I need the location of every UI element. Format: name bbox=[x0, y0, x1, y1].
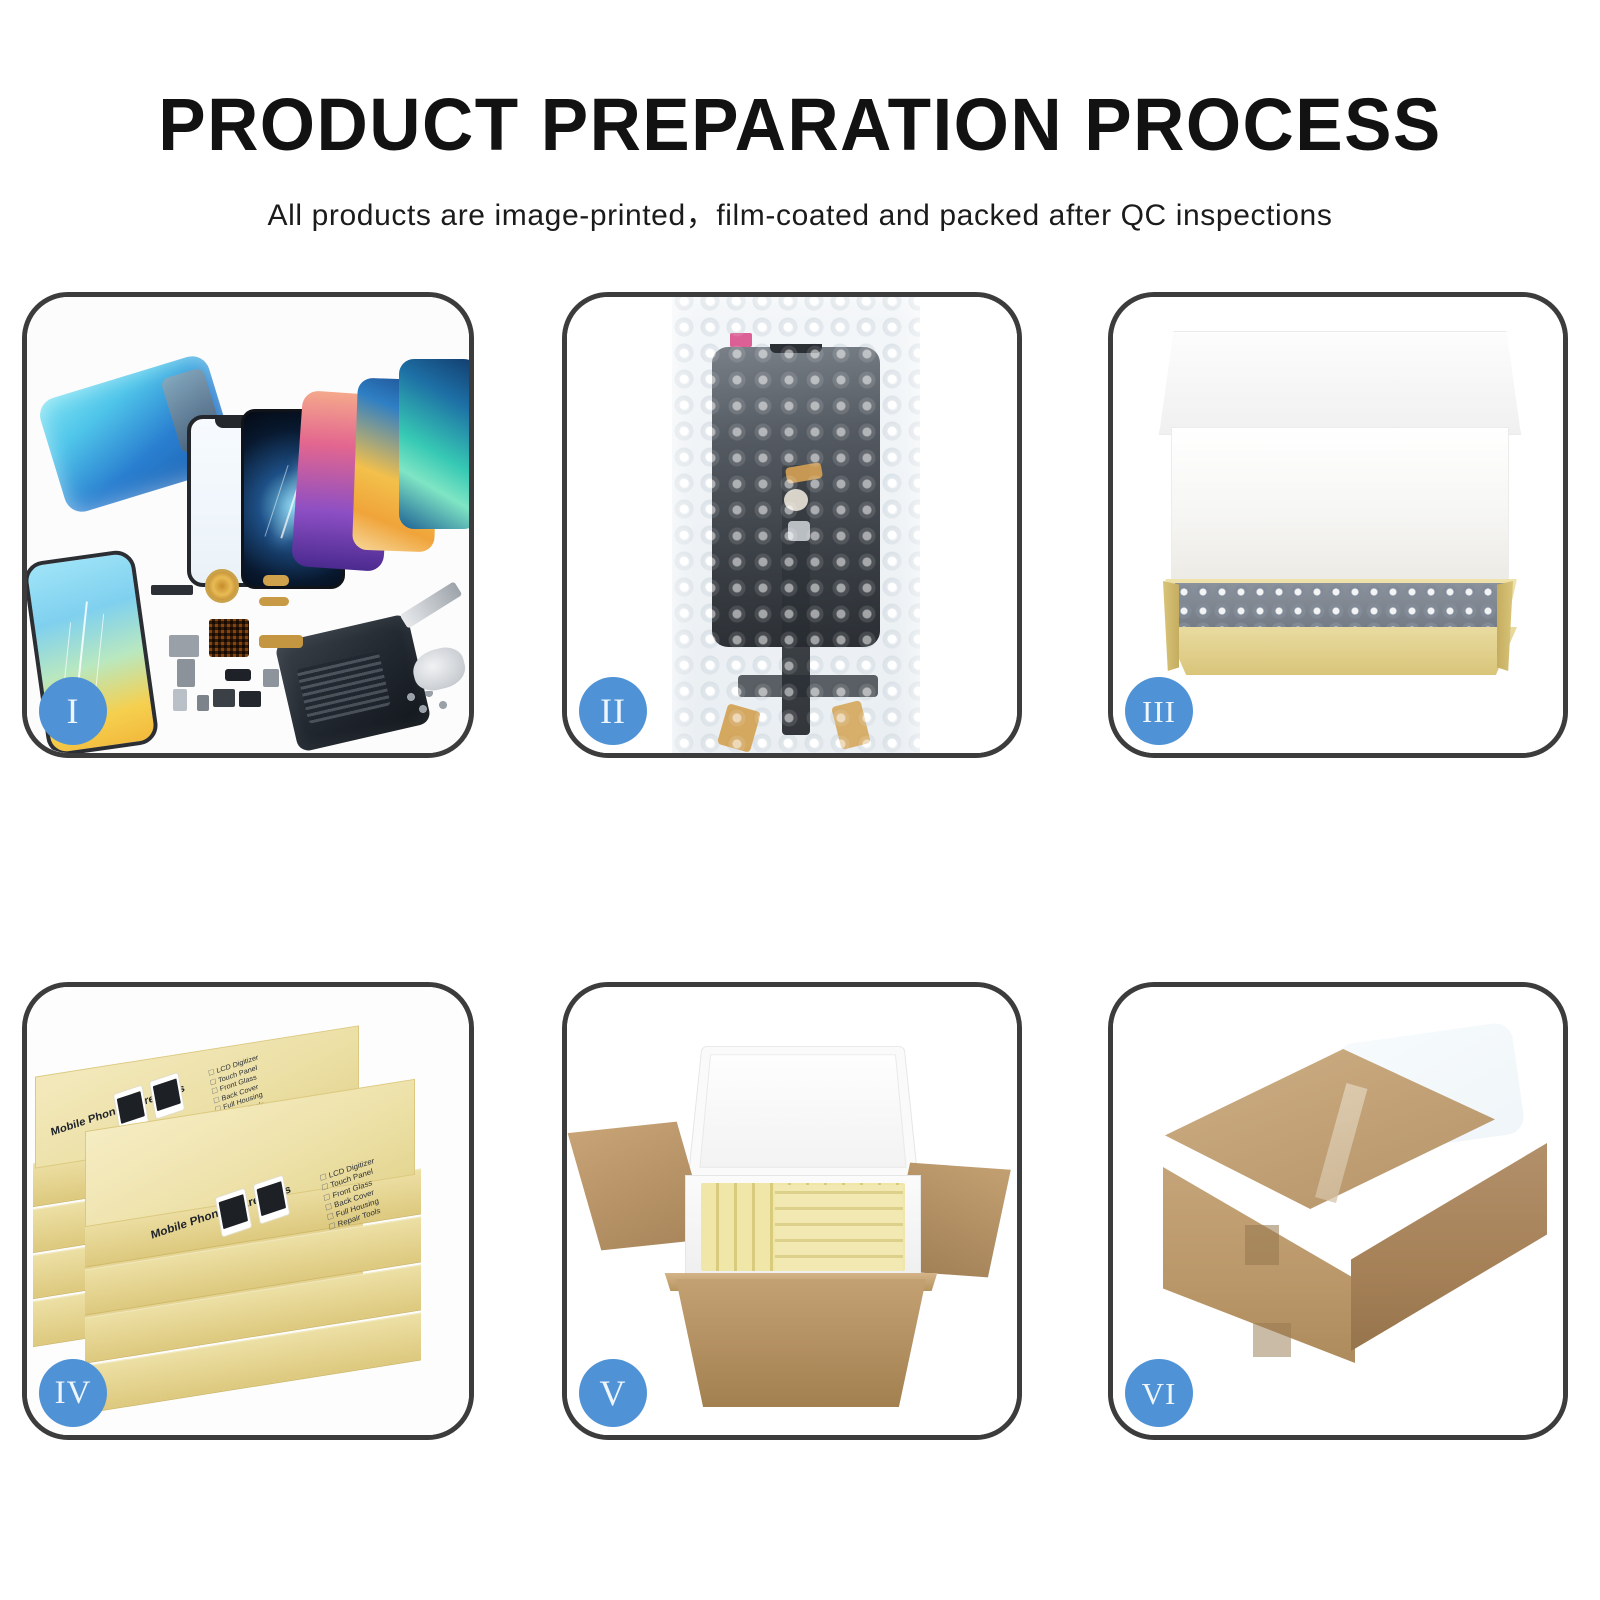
part-flex-cable-2 bbox=[259, 597, 289, 606]
box-lid-face-image bbox=[1171, 427, 1509, 585]
step-panel-1: I bbox=[22, 292, 474, 758]
step-badge-1: I bbox=[39, 677, 107, 745]
step-panel-5: V bbox=[562, 982, 1022, 1440]
part-flex-cable-3 bbox=[259, 635, 303, 648]
step-panel-6: VI bbox=[1108, 982, 1568, 1440]
step-badge-2: II bbox=[579, 677, 647, 745]
carton-front-image bbox=[665, 1279, 937, 1407]
part-bracket-2 bbox=[177, 659, 195, 687]
box-lid-back-image bbox=[1159, 331, 1521, 435]
qc-pink-label-image bbox=[730, 333, 752, 347]
flex-connector-gold-3 bbox=[831, 700, 871, 750]
step-badge-6: VI bbox=[1125, 1359, 1193, 1427]
box-tray-front-image bbox=[1165, 627, 1517, 675]
earpiece-speaker-image bbox=[784, 489, 808, 511]
repair-tool-image bbox=[400, 581, 463, 628]
retail-box-screen-thumb-1b bbox=[149, 1072, 185, 1120]
step-panel-4: Mobile Phone Spare Parts LCD Digitizer T… bbox=[22, 982, 474, 1440]
part-speaker-mesh bbox=[151, 585, 193, 595]
part-small-clip bbox=[197, 695, 209, 711]
part-vibrator bbox=[263, 669, 279, 687]
step-badge-4: IV bbox=[39, 1359, 107, 1427]
carton-flap-seam-2 bbox=[1253, 1323, 1291, 1357]
foam-lid-image bbox=[688, 1046, 919, 1178]
step-badge-3: III bbox=[1125, 677, 1193, 745]
part-connector bbox=[239, 691, 261, 707]
box-tray-right-wall bbox=[1497, 581, 1513, 671]
part-camera-module bbox=[213, 689, 235, 707]
bubble-wrap-bag-image bbox=[672, 297, 920, 753]
steps-grid: I bbox=[0, 0, 1600, 1600]
part-bracket-1 bbox=[169, 635, 199, 657]
front-camera-image bbox=[788, 521, 810, 541]
screws-image bbox=[403, 691, 451, 717]
retail-boxes-row-2-image bbox=[775, 1185, 903, 1271]
carton-flap-seam-1 bbox=[1245, 1225, 1279, 1265]
step-panel-3: III bbox=[1108, 292, 1568, 758]
chip-array-image bbox=[209, 619, 249, 657]
step-panel-2: II bbox=[562, 292, 1022, 758]
box-tray-left-wall bbox=[1163, 581, 1179, 671]
lcd-lower-board-image bbox=[738, 675, 878, 697]
part-ic-chip bbox=[225, 669, 251, 681]
flex-connector-gold-2 bbox=[717, 703, 761, 753]
part-flex-cable-1 bbox=[263, 575, 289, 586]
step-badge-5: V bbox=[579, 1359, 647, 1427]
teal-phone-image bbox=[399, 359, 469, 529]
part-sim-tray bbox=[173, 689, 187, 711]
wireless-charging-coil-image bbox=[205, 569, 239, 603]
product-preparation-infographic: PRODUCT PREPARATION PROCESS All products… bbox=[0, 0, 1600, 1600]
